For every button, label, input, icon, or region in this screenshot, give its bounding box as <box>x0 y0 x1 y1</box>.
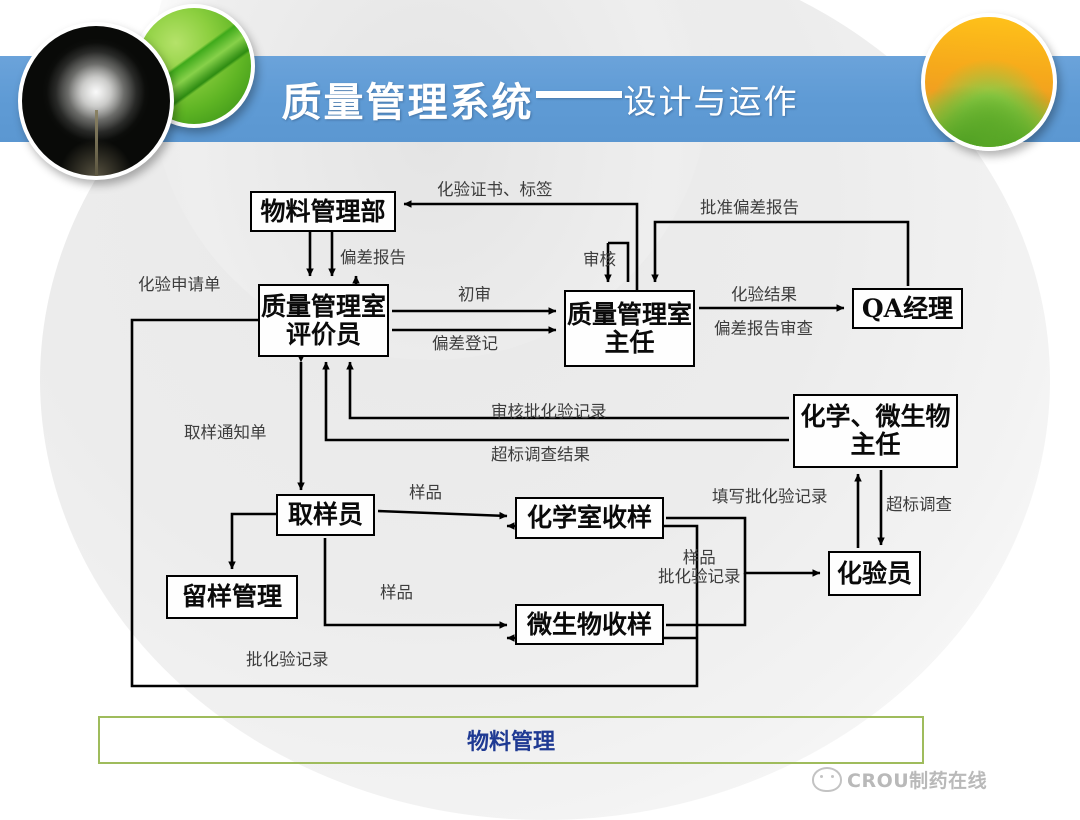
edge-label-sample-bottom: 样品 <box>380 583 413 602</box>
edge-label-test-result: 化验结果 <box>731 285 797 304</box>
edge-label-first-review: 初审 <box>458 285 491 304</box>
edge-label-approve-deviation: 批准偏差报告 <box>700 198 799 217</box>
node-label: QA经理 <box>862 295 953 323</box>
footer-banner-label: 物料管理 <box>467 724 555 756</box>
edge-label-review-batch-record: 审核批化验记录 <box>491 402 607 421</box>
node-label: 质量管理室 评价员 <box>261 293 386 349</box>
footer-banner: 物料管理 <box>98 716 924 764</box>
node-micro-lab-intake[interactable]: 微生物收样 <box>515 604 664 645</box>
edge-label-deviation-report-review: 偏差报告审查 <box>714 319 813 338</box>
node-chem-lab-intake[interactable]: 化学室收样 <box>515 497 664 539</box>
edge-label-sample-batch-record: 样品 批化验记录 <box>658 548 741 587</box>
node-label: 化学室收样 <box>527 504 652 532</box>
watermark-label: CROU制药在线 <box>847 766 987 793</box>
node-label: 微生物收样 <box>527 611 652 639</box>
edge-label-test-request-form: 化验申请单 <box>138 275 221 294</box>
edge-label-fill-batch-record: 填写批化验记录 <box>712 487 828 506</box>
edge-label-test-certificate: 化验证书、标签 <box>437 180 553 199</box>
edge-label-deviation-report: 偏差报告 <box>340 248 406 267</box>
edge-label-deviation-register: 偏差登记 <box>432 334 498 353</box>
node-retain-sample-mgmt[interactable]: 留样管理 <box>166 575 298 619</box>
node-chem-micro-director[interactable]: 化学、微生物 主任 <box>793 394 958 468</box>
edge-label-batch-record: 批化验记录 <box>246 650 329 669</box>
node-qa-room-director[interactable]: 质量管理室 主任 <box>564 290 695 367</box>
node-lab-analyst[interactable]: 化验员 <box>828 551 921 596</box>
edge-label-oos-investigation: 超标调查 <box>886 495 952 514</box>
edge-label-oos-result: 超标调查结果 <box>491 445 590 464</box>
node-label: 物料管理部 <box>260 198 385 226</box>
process-flow-diagram: 物料管理部 质量管理室 评价员 质量管理室 主任 QA经理 化学、微生物 主任 … <box>0 0 1080 810</box>
node-label: 留样管理 <box>182 583 282 611</box>
node-label: 化验员 <box>837 560 912 588</box>
node-label: 取样员 <box>288 501 363 529</box>
watermark: CROU制药在线 <box>812 762 1070 796</box>
node-material-dept[interactable]: 物料管理部 <box>250 191 396 232</box>
node-label: 化学、微生物 主任 <box>800 403 950 459</box>
node-qa-room-evaluator[interactable]: 质量管理室 评价员 <box>258 284 389 357</box>
slide-canvas: 质量管理系统 设计与运作 <box>0 0 1080 810</box>
node-sampler[interactable]: 取样员 <box>276 494 375 536</box>
node-label: 质量管理室 主任 <box>567 301 692 357</box>
edge-label-review: 审核 <box>583 250 616 269</box>
edge-label-sample-top: 样品 <box>409 483 442 502</box>
panda-face-icon <box>812 767 842 792</box>
edge-label-sampling-notice: 取样通知单 <box>184 423 267 442</box>
node-qa-manager[interactable]: QA经理 <box>852 288 963 329</box>
